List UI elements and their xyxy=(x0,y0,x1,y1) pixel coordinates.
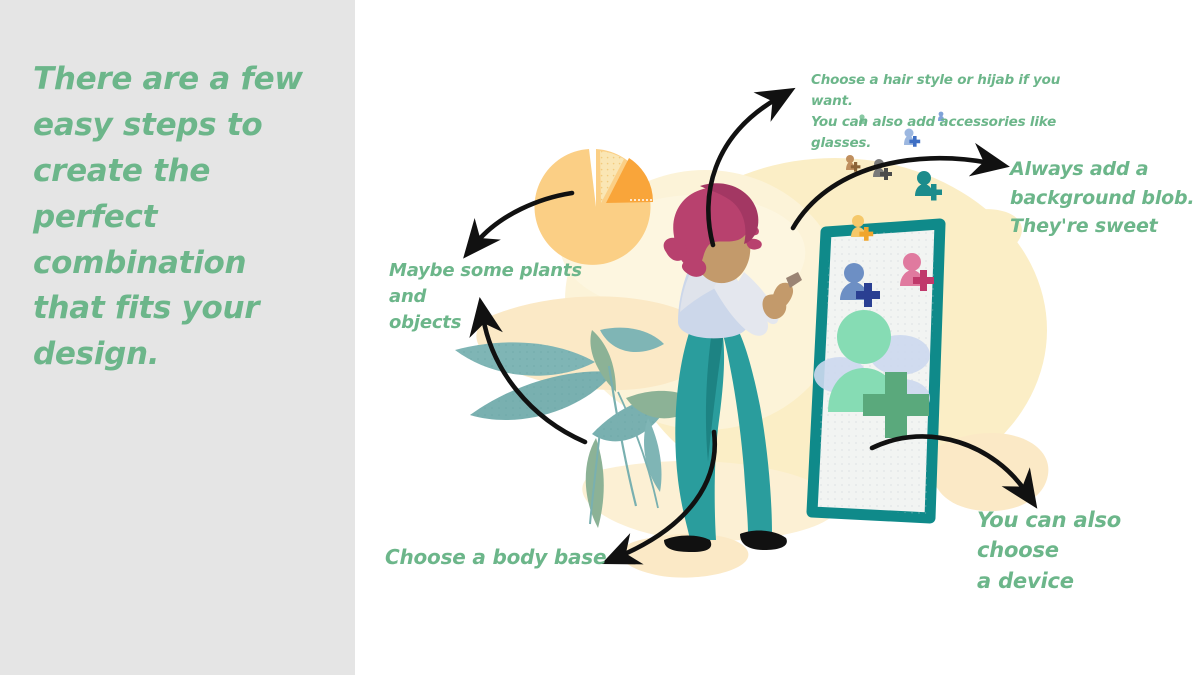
add-person-tan-icon xyxy=(846,155,860,172)
annotation-hair-style: Choose a hair style or hijab if you want… xyxy=(811,70,1101,154)
arrow-hair-to-text xyxy=(708,98,778,245)
add-person-green-large-icon xyxy=(828,310,929,438)
add-person-yellow-icon xyxy=(851,215,873,241)
add-person-pink-icon xyxy=(900,253,934,291)
arrow-legs-to-body-text xyxy=(620,432,715,556)
add-person-teal-icon xyxy=(915,171,942,201)
page-title: There are a few easy steps to create the… xyxy=(33,57,333,378)
person-figure xyxy=(664,183,802,552)
pie-chart xyxy=(534,147,653,265)
device-smartphone xyxy=(812,224,940,518)
annotation-background-blob: Always add a background blob. They're sw… xyxy=(1010,155,1200,241)
arrow-pie-to-plants-text xyxy=(476,193,572,243)
annotation-plants-objects: Maybe some plants and objects xyxy=(389,258,619,336)
background-blob-group xyxy=(476,158,1048,578)
plant-group xyxy=(455,328,700,528)
arrow-device-to-text xyxy=(872,436,1026,492)
annotation-body-base: Choose a body base xyxy=(385,543,615,571)
arrow-blob-to-text xyxy=(793,158,990,228)
slide-canvas: There are a few easy steps to create the… xyxy=(0,0,1200,675)
add-person-blue-icon xyxy=(840,263,880,307)
annotation-device: You can also choose a device xyxy=(977,505,1200,596)
add-person-gray-icon xyxy=(873,159,892,180)
